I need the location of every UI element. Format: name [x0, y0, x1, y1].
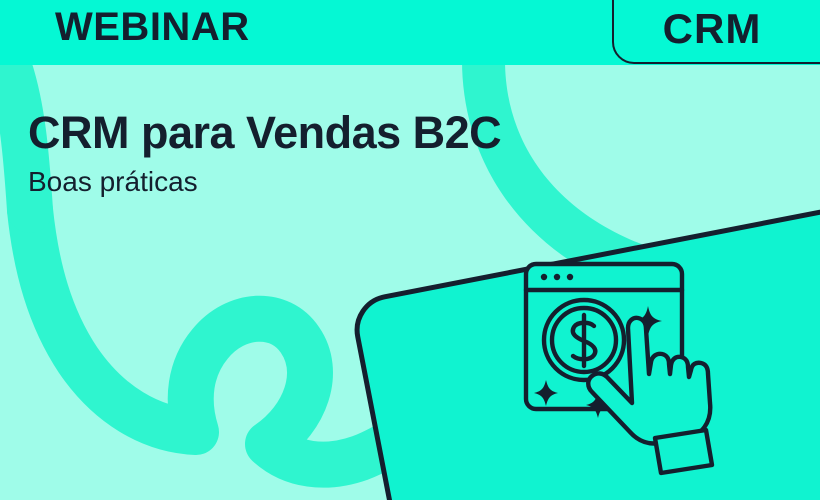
- crm-badge-label: CRM: [612, 0, 812, 59]
- illustration-card: [0, 0, 820, 500]
- webinar-banner: WEBINAR CRM CRM para Vendas B2C Boas prá…: [0, 0, 820, 500]
- hand-cuff: [655, 430, 712, 473]
- page-subtitle: Boas práticas: [28, 164, 198, 200]
- page-title: CRM para Vendas B2C: [28, 106, 501, 160]
- window-dots-icon: [541, 274, 573, 280]
- eyebrow-label: WEBINAR: [55, 5, 250, 50]
